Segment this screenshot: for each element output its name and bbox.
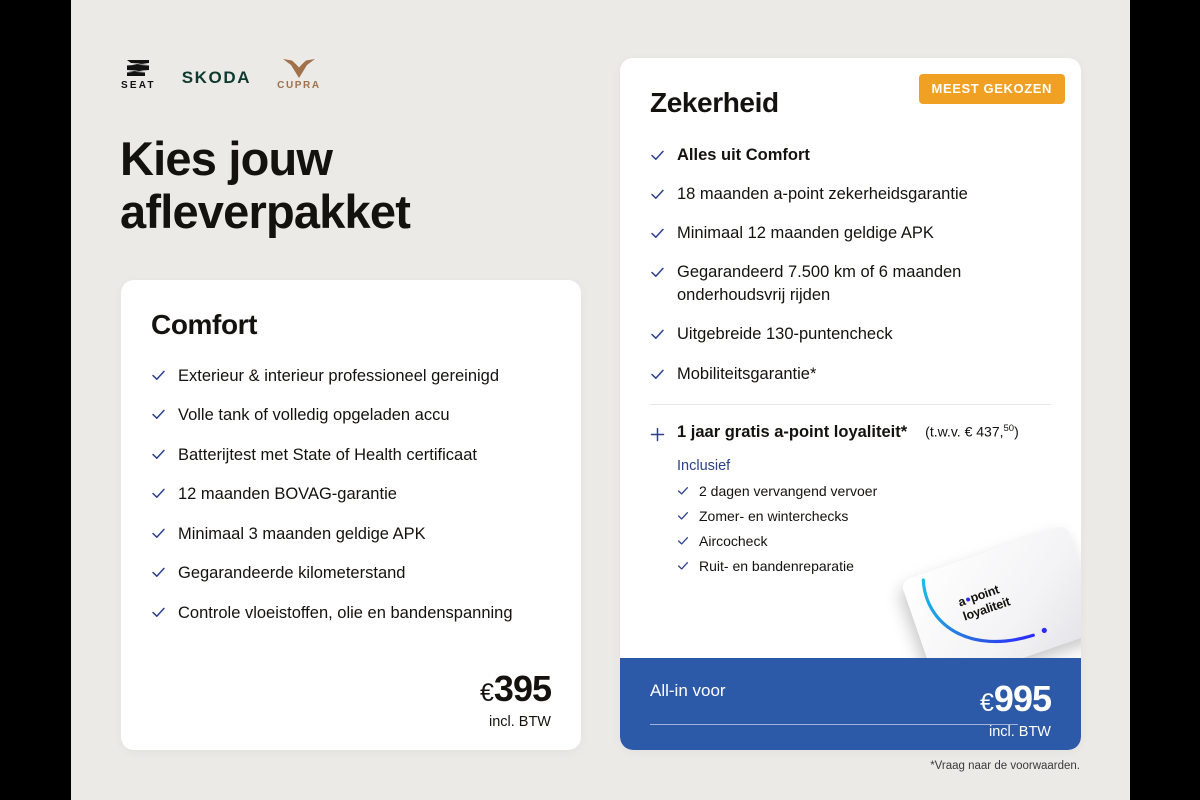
- check-icon: [677, 485, 689, 497]
- comfort-feature-label: Exterieur & interieur professioneel gere…: [178, 365, 499, 388]
- bonus-item-list: 2 dagen vervangend vervoer Zomer- en win…: [677, 483, 1051, 574]
- zekerheid-feature-label: Gegarandeerd 7.500 km of 6 maanden onder…: [677, 261, 1051, 307]
- zekerheid-feature-label: Uitgebreide 130-puntencheck: [677, 323, 893, 346]
- check-icon: [677, 535, 689, 547]
- comfort-card-body: Comfort Exterieur & interieur profession…: [121, 280, 581, 625]
- comfort-feature-item: Volle tank of volledig opgeladen accu: [151, 404, 551, 427]
- bonus-row: 1 jaar gratis a-point loyaliteit* (t.w.v…: [650, 423, 1051, 442]
- letterbox-right: [1130, 0, 1200, 800]
- check-icon: [650, 367, 665, 382]
- zekerheid-price-amount: 995: [994, 681, 1051, 717]
- page-title-line-1: Kies jouw: [120, 132, 332, 185]
- bonus-value-suffix: ): [1014, 423, 1019, 439]
- comfort-feature-item: Controle vloeistoffen, olie en bandenspa…: [151, 602, 551, 625]
- comfort-feature-label: Gegarandeerde kilometerstand: [178, 562, 405, 585]
- comfort-feature-label: Batterijtest met State of Health certifi…: [178, 444, 477, 467]
- bonus-item-label: Zomer- en winterchecks: [699, 508, 848, 524]
- zekerheid-feature-item: 18 maanden a-point zekerheidsgarantie: [650, 183, 1051, 206]
- package-card-comfort[interactable]: Comfort Exterieur & interieur profession…: [121, 280, 581, 750]
- page-title: Kies jouw afleverpakket: [120, 132, 540, 238]
- check-icon: [650, 187, 665, 202]
- check-icon: [650, 265, 665, 280]
- page-title-line-2: afleverpakket: [120, 185, 410, 238]
- zekerheid-feature-item: Alles uit Comfort: [650, 144, 1051, 167]
- brand-seat-label: SEAT: [121, 80, 156, 91]
- brand-skoda: SKODA: [182, 68, 251, 91]
- zekerheid-feature-item: Minimaal 12 maanden geldige APK: [650, 222, 1051, 245]
- comfort-feature-label: Volle tank of volledig opgeladen accu: [178, 404, 450, 427]
- zekerheid-feature-label: 18 maanden a-point zekerheidsgarantie: [677, 183, 968, 206]
- comfort-price-currency: €: [480, 681, 493, 706]
- bonus-list-item: Ruit- en bandenreparatie: [677, 558, 1051, 574]
- check-icon: [151, 407, 166, 422]
- check-icon: [677, 510, 689, 522]
- zekerheid-price-row: All-in voor €995 incl. BTW: [650, 681, 1051, 740]
- comfort-price-amount: 395: [494, 671, 551, 707]
- check-icon: [151, 526, 166, 541]
- page-canvas: SEAT SKODA CUPRA Kies jouw afleverpakket: [71, 0, 1130, 800]
- package-card-zekerheid[interactable]: MEEST GEKOZEN Zekerheid Alles uit Comfor…: [620, 58, 1081, 750]
- zekerheid-price-footer: All-in voor €995 incl. BTW: [620, 658, 1081, 750]
- letterbox-left: [0, 0, 71, 800]
- bonus-item-label: 2 dagen vervangend vervoer: [699, 483, 877, 499]
- comfort-price: €395: [480, 671, 551, 707]
- zekerheid-feature-list: Alles uit Comfort 18 maanden a-point zek…: [650, 144, 1051, 386]
- bonus-item-label: Aircocheck: [699, 533, 767, 549]
- check-icon: [151, 368, 166, 383]
- comfort-feature-item: Exterieur & interieur professioneel gere…: [151, 365, 551, 388]
- check-icon: [151, 486, 166, 501]
- check-icon: [650, 226, 665, 241]
- comfort-feature-item: 12 maanden BOVAG-garantie: [151, 483, 551, 506]
- bonus-list-item: Zomer- en winterchecks: [677, 508, 1051, 524]
- section-divider: [650, 404, 1051, 405]
- comfort-feature-list: Exterieur & interieur professioneel gere…: [151, 365, 551, 625]
- zekerheid-price-currency: €: [980, 691, 993, 716]
- zekerheid-feature-label: Mobiliteitsgarantie*: [677, 363, 816, 386]
- comfort-title: Comfort: [151, 309, 551, 341]
- check-icon: [151, 447, 166, 462]
- status-badge: MEEST GEKOZEN: [919, 74, 1065, 104]
- zekerheid-feature-label: Minimaal 12 maanden geldige APK: [677, 222, 934, 245]
- allin-label: All-in voor: [650, 681, 726, 701]
- check-icon: [151, 605, 166, 620]
- bonus-value-cents: 50: [1004, 423, 1015, 434]
- bonus-value: (t.w.v. € 437,50): [925, 423, 1019, 440]
- seat-logo-icon: [125, 57, 151, 79]
- comfort-feature-item: Gegarandeerde kilometerstand: [151, 562, 551, 585]
- comfort-price-block: €395 incl. BTW: [480, 671, 551, 730]
- bonus-list-item: Aircocheck: [677, 533, 1051, 549]
- brand-cupra-label: CUPRA: [277, 80, 321, 91]
- screenshot-stage: SEAT SKODA CUPRA Kies jouw afleverpakket: [0, 0, 1200, 800]
- comfort-price-note: incl. BTW: [480, 714, 551, 730]
- zekerheid-feature-item: Gegarandeerd 7.500 km of 6 maanden onder…: [650, 261, 1051, 307]
- zekerheid-price-note: incl. BTW: [980, 724, 1051, 740]
- comfort-feature-label: 12 maanden BOVAG-garantie: [178, 483, 397, 506]
- zekerheid-price-block: €995 incl. BTW: [980, 681, 1051, 740]
- zekerheid-feature-item: Mobiliteitsgarantie*: [650, 363, 1051, 386]
- bonus-list-item: 2 dagen vervangend vervoer: [677, 483, 1051, 499]
- bonus-value-prefix: (t.w.v. € 437,: [925, 423, 1003, 439]
- zekerheid-price: €995: [980, 681, 1051, 717]
- cupra-logo-icon: [282, 58, 316, 79]
- comfort-feature-label: Minimaal 3 maanden geldige APK: [178, 523, 426, 546]
- check-icon: [650, 327, 665, 342]
- comfort-feature-label: Controle vloeistoffen, olie en bandenspa…: [178, 602, 513, 625]
- check-icon: [151, 565, 166, 580]
- check-icon: [677, 560, 689, 572]
- brand-logo-row: SEAT SKODA CUPRA: [121, 57, 321, 91]
- brand-skoda-label: SKODA: [182, 68, 251, 87]
- bonus-item-label: Ruit- en bandenreparatie: [699, 558, 854, 574]
- zekerheid-card-body: Zekerheid Alles uit Comfort 18 maanden a…: [620, 58, 1081, 574]
- inclusief-label: Inclusief: [677, 458, 1051, 474]
- brand-seat: SEAT: [121, 57, 156, 91]
- comfort-feature-item: Minimaal 3 maanden geldige APK: [151, 523, 551, 546]
- zekerheid-feature-label: Alles uit Comfort: [677, 144, 810, 167]
- bonus-title: 1 jaar gratis a-point loyaliteit*: [677, 423, 907, 442]
- footnote: *Vraag naar de voorwaarden.: [930, 760, 1080, 772]
- comfort-feature-item: Batterijtest met State of Health certifi…: [151, 444, 551, 467]
- price-underline: [650, 724, 1018, 725]
- zekerheid-feature-item: Uitgebreide 130-puntencheck: [650, 323, 1051, 346]
- check-icon: [650, 148, 665, 163]
- plus-icon: [650, 427, 665, 442]
- brand-cupra: CUPRA: [277, 58, 321, 91]
